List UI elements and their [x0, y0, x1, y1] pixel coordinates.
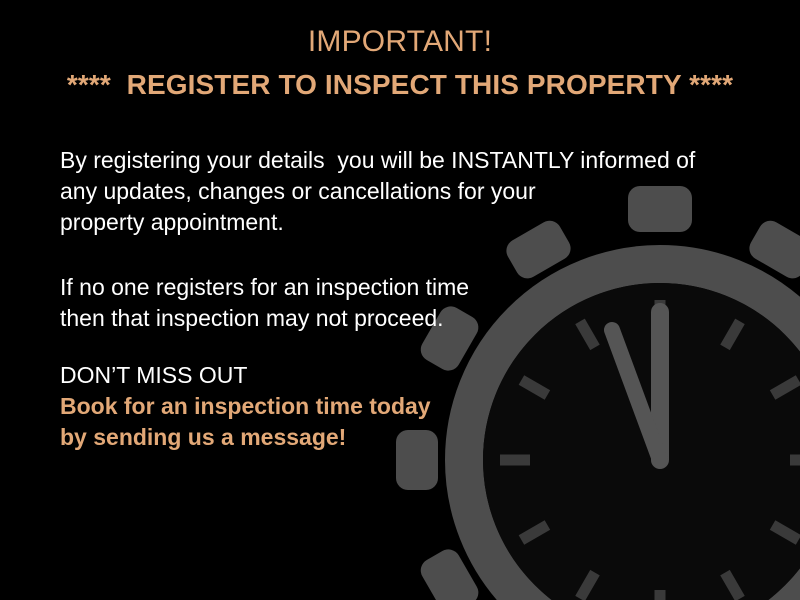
paragraph-line: then that inspection may not proceed.	[60, 303, 720, 334]
paragraph-line: By registering your details you will be …	[60, 145, 720, 176]
cta-lead-line: DON’T MISS OUT	[60, 360, 720, 391]
cta-book-line: Book for an inspection time today	[60, 391, 720, 422]
paragraph-no-one-registers: If no one registers for an inspection ti…	[60, 272, 720, 334]
paragraph-line: If no one registers for an inspection ti…	[60, 272, 720, 303]
slide-text-layer: IMPORTANT! **** REGISTER TO INSPECT THIS…	[0, 0, 800, 600]
call-to-action-block: DON’T MISS OUT Book for an inspection ti…	[60, 360, 720, 453]
page-subtitle: **** REGISTER TO INSPECT THIS PROPERTY *…	[0, 67, 800, 103]
paragraph-line: property appointment.	[60, 207, 720, 238]
headline-block: IMPORTANT! **** REGISTER TO INSPECT THIS…	[0, 24, 800, 103]
paragraph-line: any updates, changes or cancellations fo…	[60, 176, 720, 207]
paragraph-registering: By registering your details you will be …	[60, 145, 720, 238]
promotional-slide: IMPORTANT! **** REGISTER TO INSPECT THIS…	[0, 0, 800, 600]
page-title: IMPORTANT!	[0, 24, 800, 61]
cta-message-line: by sending us a message!	[60, 422, 720, 453]
